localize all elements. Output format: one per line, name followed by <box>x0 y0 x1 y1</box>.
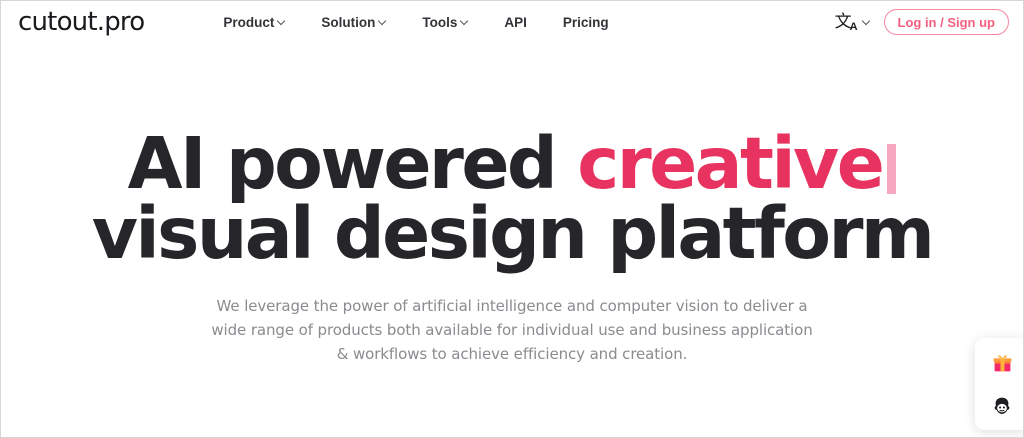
main-navigation: Product Solution Tools API Pricing <box>205 15 626 30</box>
chevron-down-icon <box>461 18 468 25</box>
chevron-down-icon <box>379 18 386 25</box>
gift-icon <box>992 353 1013 373</box>
site-logo[interactable]: cutout.pro <box>18 9 144 35</box>
hero-subtitle: We leverage the power of artificial inte… <box>1 294 1023 366</box>
page-title: AI powered creative visual design platfo… <box>1 129 1023 269</box>
chevron-down-icon <box>863 18 870 25</box>
headline-line-2: visual design platform <box>92 192 933 275</box>
nav-item-label: API <box>504 15 527 30</box>
subtitle-line: We leverage the power of artificial inte… <box>1 294 1023 318</box>
chevron-down-icon <box>278 18 285 25</box>
page-root: cutout.pro Product Solution Tools API Pr… <box>0 0 1024 438</box>
nav-item-label: Tools <box>422 15 457 30</box>
nav-item-product[interactable]: Product <box>205 15 303 30</box>
nav-item-label: Pricing <box>563 15 609 30</box>
gift-button[interactable] <box>988 349 1016 377</box>
customer-service-avatar-icon <box>991 396 1013 418</box>
typing-caret-icon <box>887 144 896 194</box>
nav-item-label: Product <box>223 15 274 30</box>
nav-item-tools[interactable]: Tools <box>404 15 486 30</box>
subtitle-line: wide range of products both available fo… <box>1 318 1023 342</box>
translate-icon: 文A <box>835 14 858 31</box>
hero-section: AI powered creative visual design platfo… <box>1 43 1023 437</box>
header-actions: 文A Log in / Sign up <box>835 1 1009 43</box>
customer-support-button[interactable] <box>988 393 1016 421</box>
language-selector[interactable]: 文A <box>835 14 870 31</box>
nav-item-api[interactable]: API <box>486 15 545 30</box>
login-signup-button[interactable]: Log in / Sign up <box>884 9 1009 35</box>
nav-item-pricing[interactable]: Pricing <box>545 15 627 30</box>
subtitle-line: & workflows to achieve efficiency and cr… <box>1 342 1023 366</box>
nav-item-solution[interactable]: Solution <box>303 15 404 30</box>
site-header: cutout.pro Product Solution Tools API Pr… <box>1 1 1023 43</box>
nav-item-label: Solution <box>321 15 375 30</box>
floating-side-widget <box>975 338 1024 430</box>
